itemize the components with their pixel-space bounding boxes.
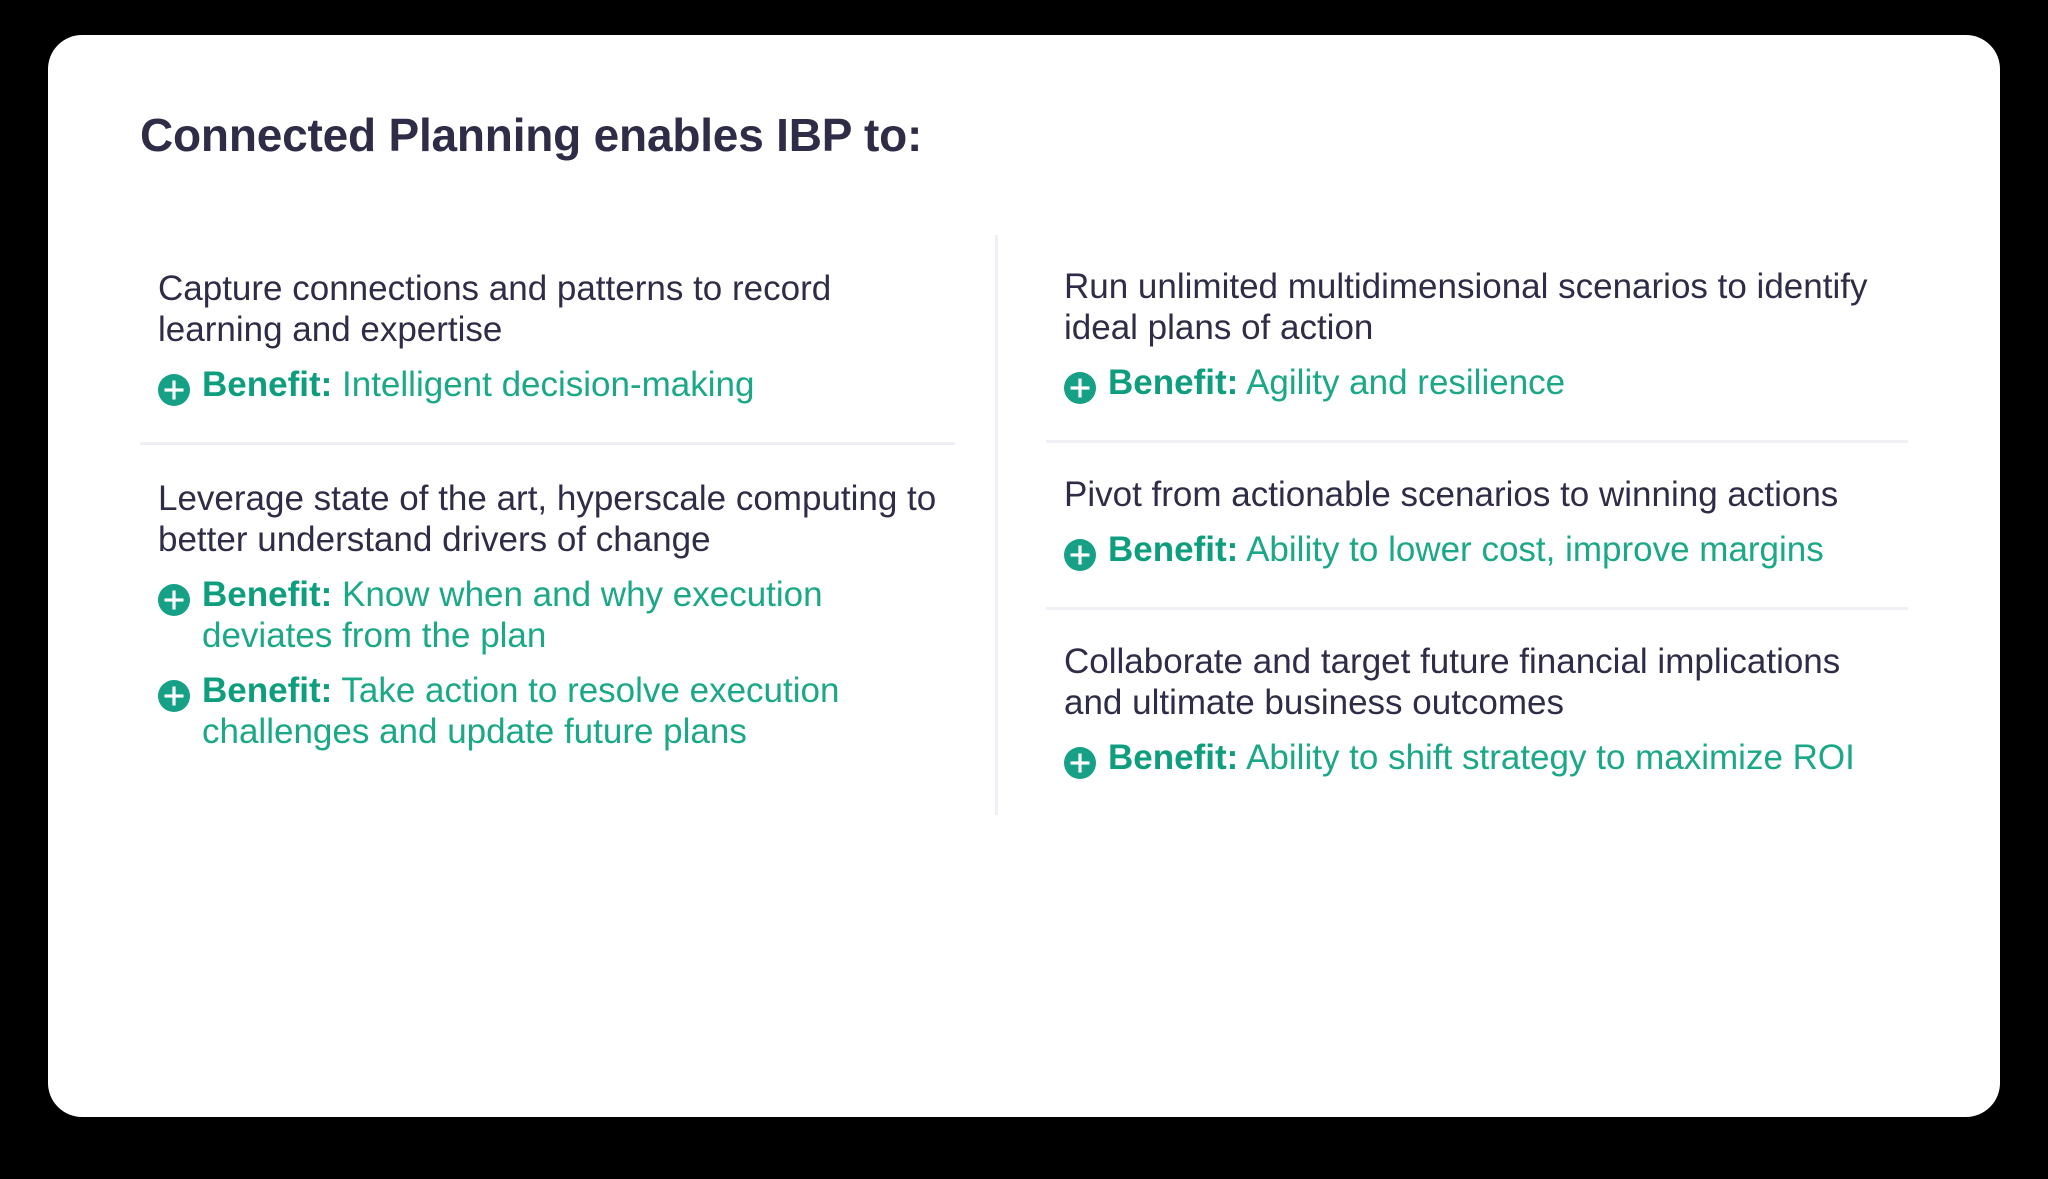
benefit-text: Benefit: Ability to shift strategy to ma… (1108, 738, 1908, 779)
benefit-label: Benefit: (202, 365, 332, 404)
benefit-value: Agility and resilience (1246, 363, 1565, 402)
benefit-cell-right-1: Run unlimited multidimensional scenarios… (1046, 235, 1908, 440)
benefit-label: Benefit: (1108, 363, 1238, 402)
benefit-cell-left-1: Capture connections and patterns to reco… (140, 235, 955, 442)
benefit-text: Benefit: Take action to resolve executio… (202, 671, 955, 753)
benefit-row: Benefit: Take action to resolve executio… (158, 671, 955, 753)
benefit-cell-left-2: Leverage state of the art, hyperscale co… (140, 442, 955, 789)
cell-lead-text: Pivot from actionable scenarios to winni… (1064, 475, 1908, 516)
plus-circle-icon (1064, 747, 1096, 779)
plus-circle-icon (1064, 372, 1096, 404)
benefit-text: Benefit: Agility and resilience (1108, 363, 1908, 404)
benefit-value: Intelligent decision-making (342, 365, 754, 404)
benefit-value: Ability to shift strategy to maximize RO… (1246, 738, 1855, 777)
cell-lead-text: Run unlimited multidimensional scenarios… (1064, 267, 1908, 349)
plus-circle-icon (1064, 539, 1096, 571)
plus-circle-icon (158, 584, 190, 616)
benefit-row: Benefit: Ability to lower cost, improve … (1064, 530, 1908, 571)
benefit-cell-right-3: Collaborate and target future financial … (1046, 607, 1908, 815)
content-card: Connected Planning enables IBP to: Captu… (48, 35, 2000, 1117)
benefit-text: Benefit: Know when and why execution dev… (202, 575, 955, 657)
page-title: Connected Planning enables IBP to: (140, 108, 922, 163)
benefit-label: Benefit: (202, 575, 332, 614)
benefit-row: Benefit: Ability to shift strategy to ma… (1064, 738, 1908, 779)
benefit-text: Benefit: Intelligent decision-making (202, 365, 955, 406)
benefit-label: Benefit: (1108, 738, 1238, 777)
right-column: Run unlimited multidimensional scenarios… (995, 235, 1908, 815)
benefit-row: Benefit: Know when and why execution dev… (158, 575, 955, 657)
cell-lead-text: Collaborate and target future financial … (1064, 642, 1908, 724)
benefit-row: Benefit: Agility and resilience (1064, 363, 1908, 404)
benefit-text: Benefit: Ability to lower cost, improve … (1108, 530, 1908, 571)
benefit-label: Benefit: (1108, 530, 1238, 569)
benefit-label: Benefit: (202, 671, 332, 710)
page-root: Connected Planning enables IBP to: Captu… (0, 0, 2048, 1179)
cell-lead-text: Leverage state of the art, hyperscale co… (158, 479, 955, 561)
benefit-value: Ability to lower cost, improve margins (1246, 530, 1824, 569)
benefits-grid: Capture connections and patterns to reco… (140, 235, 1908, 815)
plus-circle-icon (158, 374, 190, 406)
cell-lead-text: Capture connections and patterns to reco… (158, 269, 955, 351)
left-column: Capture connections and patterns to reco… (140, 235, 995, 789)
benefit-cell-right-2: Pivot from actionable scenarios to winni… (1046, 440, 1908, 607)
benefit-row: Benefit: Intelligent decision-making (158, 365, 955, 406)
plus-circle-icon (158, 680, 190, 712)
